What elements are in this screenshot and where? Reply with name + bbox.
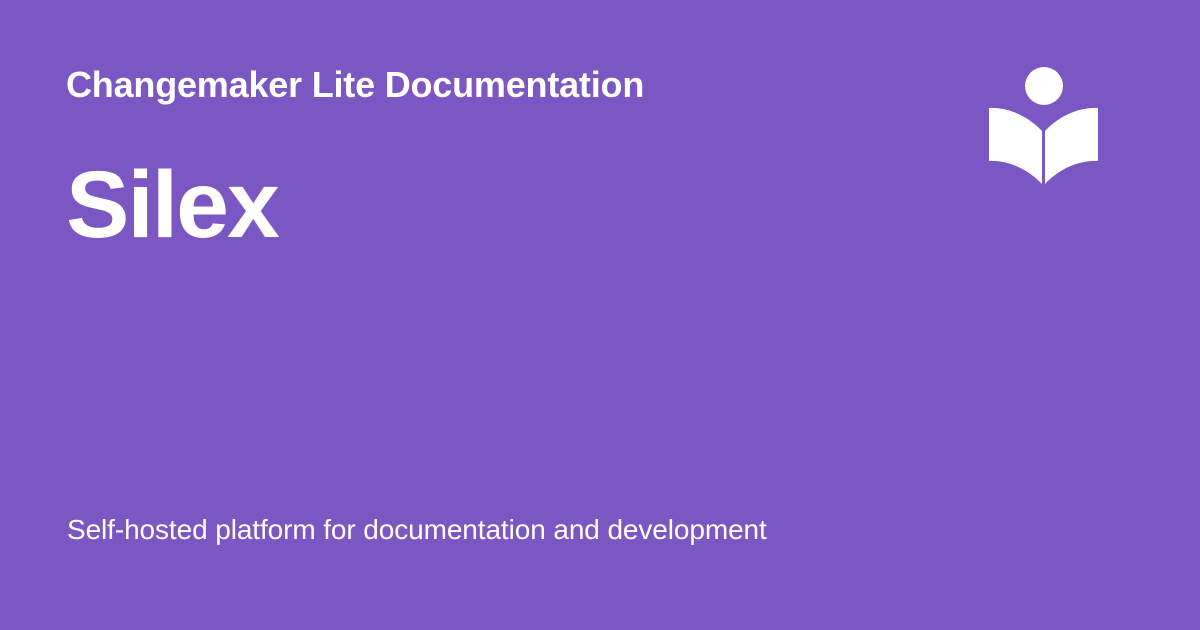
og-preview-card: Changemaker Lite Documentation Silex Sel…	[0, 0, 1200, 630]
open-book-reader-icon	[987, 65, 1100, 185]
text-column: Changemaker Lite Documentation Silex Sel…	[66, 0, 946, 630]
breadcrumb-project-label: Changemaker Lite Documentation	[66, 67, 644, 103]
page-title: Silex	[66, 158, 278, 253]
page-tagline: Self-hosted platform for documentation a…	[67, 513, 767, 547]
